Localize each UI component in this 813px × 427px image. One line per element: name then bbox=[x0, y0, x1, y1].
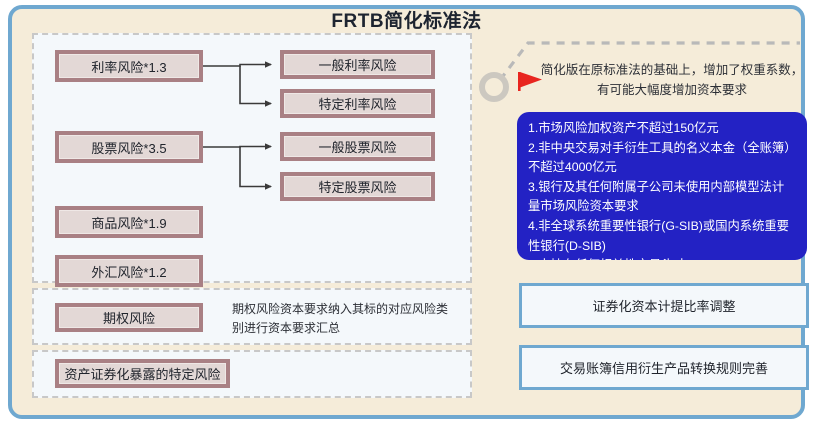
criteria-item: 5.未持有任何相关性交易头寸 bbox=[528, 256, 796, 260]
risk-box-securitisation-specific[interactable]: 资产证券化暴露的特定风险 bbox=[55, 359, 230, 388]
risk-box-fx[interactable]: 外汇风险*1.2 bbox=[55, 255, 203, 287]
risk-box-specific-interest-rate[interactable]: 特定利率风险 bbox=[280, 89, 435, 118]
box-credit-derivative-conversion-rules[interactable]: 交易账簿信用衍生产品转换规则完善 bbox=[519, 345, 809, 390]
risk-box-general-equity[interactable]: 一般股票风险 bbox=[280, 132, 435, 161]
risk-box-equity[interactable]: 股票风险*3.5 bbox=[55, 131, 203, 163]
box-securitisation-ratio-adjustment[interactable]: 证券化资本计提比率调整 bbox=[519, 283, 809, 328]
option-risk-note: 期权风险资本要求纳入其标的对应风险类别进行资本要求汇总 bbox=[232, 300, 457, 338]
risk-box-option[interactable]: 期权风险 bbox=[55, 303, 203, 332]
page-title: FRTB简化标准法 bbox=[0, 6, 813, 33]
criteria-item: 1.市场风险加权资产不超过150亿元 bbox=[528, 119, 796, 139]
criteria-item: 3.银行及其任何附属子公司未使用内部模型法计量市场风险资本要求 bbox=[528, 178, 796, 217]
risk-box-commodity[interactable]: 商品风险*1.9 bbox=[55, 206, 203, 238]
criteria-item: 4.非全球系统重要性银行(G-SIB)或国内系统重要性银行(D-SIB) bbox=[528, 217, 796, 256]
criteria-item: 2.非中央交易对手衍生工具的名义本金（全账簿）不超过4000亿元 bbox=[528, 139, 796, 178]
risk-box-interest-rate[interactable]: 利率风险*1.3 bbox=[55, 50, 203, 82]
risk-box-general-interest-rate[interactable]: 一般利率风险 bbox=[280, 50, 435, 79]
risk-box-specific-equity[interactable]: 特定股票风险 bbox=[280, 172, 435, 201]
simplified-approach-note: 简化版在原标准法的基础上，增加了权重系数，有可能大幅度增加资本要求 bbox=[536, 60, 808, 100]
eligibility-criteria-callout: 1.市场风险加权资产不超过150亿元 2.非中央交易对手衍生工具的名义本金（全账… bbox=[517, 112, 807, 260]
